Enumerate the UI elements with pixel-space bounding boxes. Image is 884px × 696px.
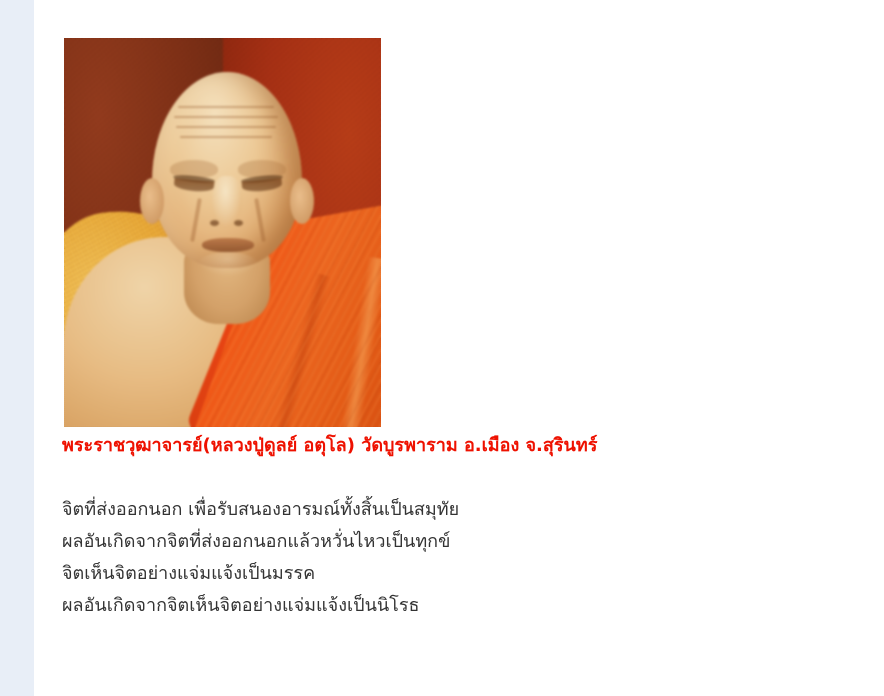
mouth [202,238,254,252]
verse-line-3: จิตเห็นจิตอย่างแจ่มแจ้งเป็นมรรค [62,558,762,590]
left-nostril [210,220,219,226]
left-gutter-strip [0,0,34,696]
content-column: พระราชวุฒาจารย์(หลวงปู่ดูลย์ อตุโล) วัดบ… [34,0,884,696]
chin-highlight [198,252,258,276]
left-ear [140,178,164,224]
verse-line-4: ผลอันเกิดจากจิตเห็นจิตอย่างแจ่มแจ้งเป็นน… [62,590,762,622]
dhamma-verse-block: จิตที่ส่งออกนอก เพื่อรับสนองอารมณ์ทั้งสิ… [62,494,762,622]
robe-fold-highlight [338,257,381,427]
left-eye-closed [174,178,215,192]
photo-caption: พระราชวุฒาจารย์(หลวงปู่ดูลย์ อตุโล) วัดบ… [62,434,597,458]
right-ear [290,178,314,224]
forehead-wrinkle [178,106,274,108]
verse-line-2: ผลอันเกิดจากจิตที่ส่งออกนอกแล้วหวั่นไหวเ… [62,526,762,558]
right-nasolabial-fold [254,198,266,242]
monk-portrait-photo [64,38,381,427]
left-nasolabial-fold [190,198,202,242]
forehead-wrinkle [176,126,276,128]
verse-line-1: จิตที่ส่งออกนอก เพื่อรับสนองอารมณ์ทั้งสิ… [62,494,762,526]
right-nostril [234,220,243,226]
page-root: พระราชวุฒาจารย์(หลวงปู่ดูลย์ อตุโล) วัดบ… [0,0,884,696]
forehead-wrinkle [180,136,272,138]
photo-canvas [64,38,381,427]
forehead-wrinkle [174,116,278,118]
robe-fold-shadow [271,273,332,427]
right-eye-closed [242,178,283,192]
